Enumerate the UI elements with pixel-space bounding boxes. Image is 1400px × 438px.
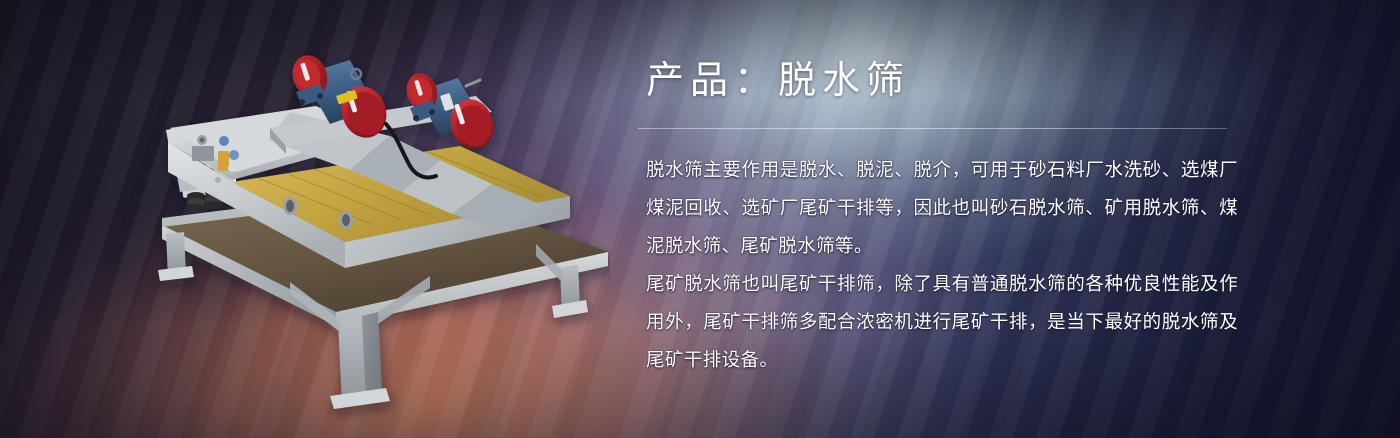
nameplate: [192, 146, 214, 161]
blue-sticker-2-icon: [229, 150, 239, 160]
machine-leg-front: [338, 316, 366, 404]
description-paragraph-1: 脱水筛主要作用是脱水、脱泥、脱介，可用于砂石料厂水洗砂、选煤厂煤泥回收、选矿厂尾…: [646, 151, 1238, 265]
description-paragraph-2: 尾矿脱水筛也叫尾矿干排筛，除了具有普通脱水筛的各种优良性能及作用外，尾矿干排筛多…: [646, 265, 1238, 379]
banner-description: 脱水筛主要作用是脱水、脱泥、脱介，可用于砂石料厂水洗砂、选煤厂煤泥回收、选矿厂尾…: [646, 151, 1238, 379]
page-title: 产品：脱水筛: [646, 62, 1246, 100]
blue-sticker-icon: [219, 136, 229, 146]
product-banner: 产品：脱水筛 脱水筛主要作用是脱水、脱泥、脱介，可用于砂石料厂水洗砂、选煤厂煤泥…: [0, 0, 1400, 438]
warning-label: [218, 151, 229, 171]
dewatering-screen-illustration: [140, 20, 610, 420]
round-label-icon: [228, 164, 236, 172]
product-image: [140, 20, 610, 420]
motor-right-shaft: [466, 80, 480, 86]
title-divider: [638, 128, 1227, 129]
bolt-head-icon: [215, 177, 221, 183]
banner-text-column: 产品：脱水筛 脱水筛主要作用是脱水、脱泥、脱介，可用于砂石料厂水洗砂、选煤厂煤泥…: [646, 62, 1246, 379]
vibrator-motor-right: [402, 69, 500, 154]
machine-group: [158, 51, 608, 409]
machine-foot-left: [158, 266, 194, 281]
